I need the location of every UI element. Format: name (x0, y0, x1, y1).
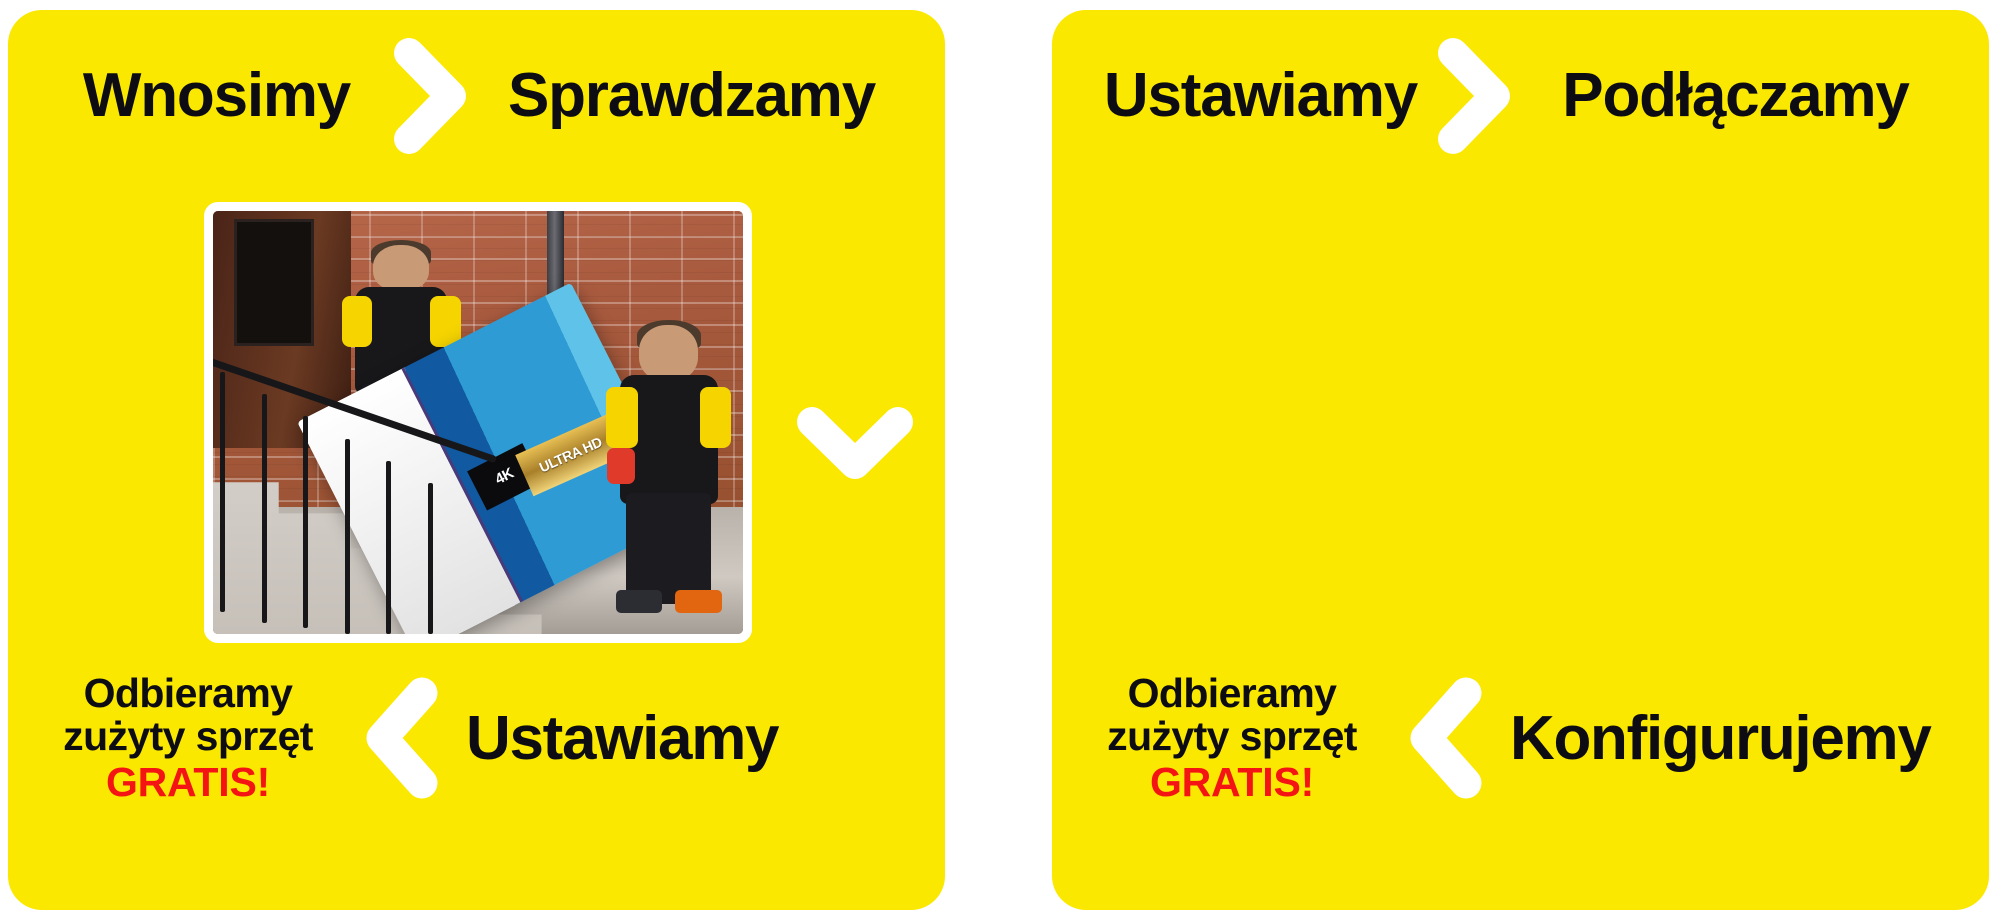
recycle-line-2: zużyty sprzęt (1082, 715, 1382, 758)
card-left-header: Wnosimy Sprawdzamy (8, 46, 945, 146)
stair-railing (213, 355, 499, 634)
worker-lower (616, 325, 722, 604)
step-label-konfigurujemy: Konfigurujemy (1510, 703, 1931, 774)
delivery-service-banner: Wnosimy Sprawdzamy (0, 0, 2000, 857)
recycle-line-2: zużyty sprzęt (38, 715, 338, 758)
service-card-right: Ustawiamy Podłączamy (1052, 10, 1989, 910)
chevron-down-icon (780, 390, 930, 500)
recycle-free-badge: GRATIS! (38, 761, 338, 804)
step-label-ustawiamy: Ustawiamy (466, 703, 778, 774)
chevron-right-icon (382, 37, 482, 155)
door-grille (234, 219, 314, 346)
photo-carry-tv: 4K ULTRA HD (204, 202, 752, 643)
step-label-wnosimy: Wnosimy (52, 65, 382, 127)
step-label-podlaczamy: Podłączamy (1526, 65, 1946, 127)
card-right-header: Ustawiamy Podłączamy (1052, 46, 1989, 146)
card-left-footer: Odbieramy zużyty sprzęt GRATIS! Ustawiam… (8, 658, 945, 818)
recycling-note-left: Odbieramy zużyty sprzęt GRATIS! (38, 672, 338, 804)
recycle-free-badge: GRATIS! (1082, 761, 1382, 804)
chevron-left-icon (338, 673, 466, 803)
chevron-right-icon (1426, 37, 1526, 155)
step-label-sprawdzamy: Sprawdzamy (482, 65, 902, 127)
chevron-left-icon (1382, 673, 1510, 803)
recycle-line-1: Odbieramy (1082, 672, 1382, 715)
service-card-left: Wnosimy Sprawdzamy (8, 10, 945, 910)
recycle-line-1: Odbieramy (38, 672, 338, 715)
card-right-footer: Odbieramy zużyty sprzęt GRATIS! Konfigur… (1052, 658, 1989, 818)
step-label-ustawiamy-header: Ustawiamy (1096, 65, 1426, 127)
recycling-note-right: Odbieramy zużyty sprzęt GRATIS! (1082, 672, 1382, 804)
